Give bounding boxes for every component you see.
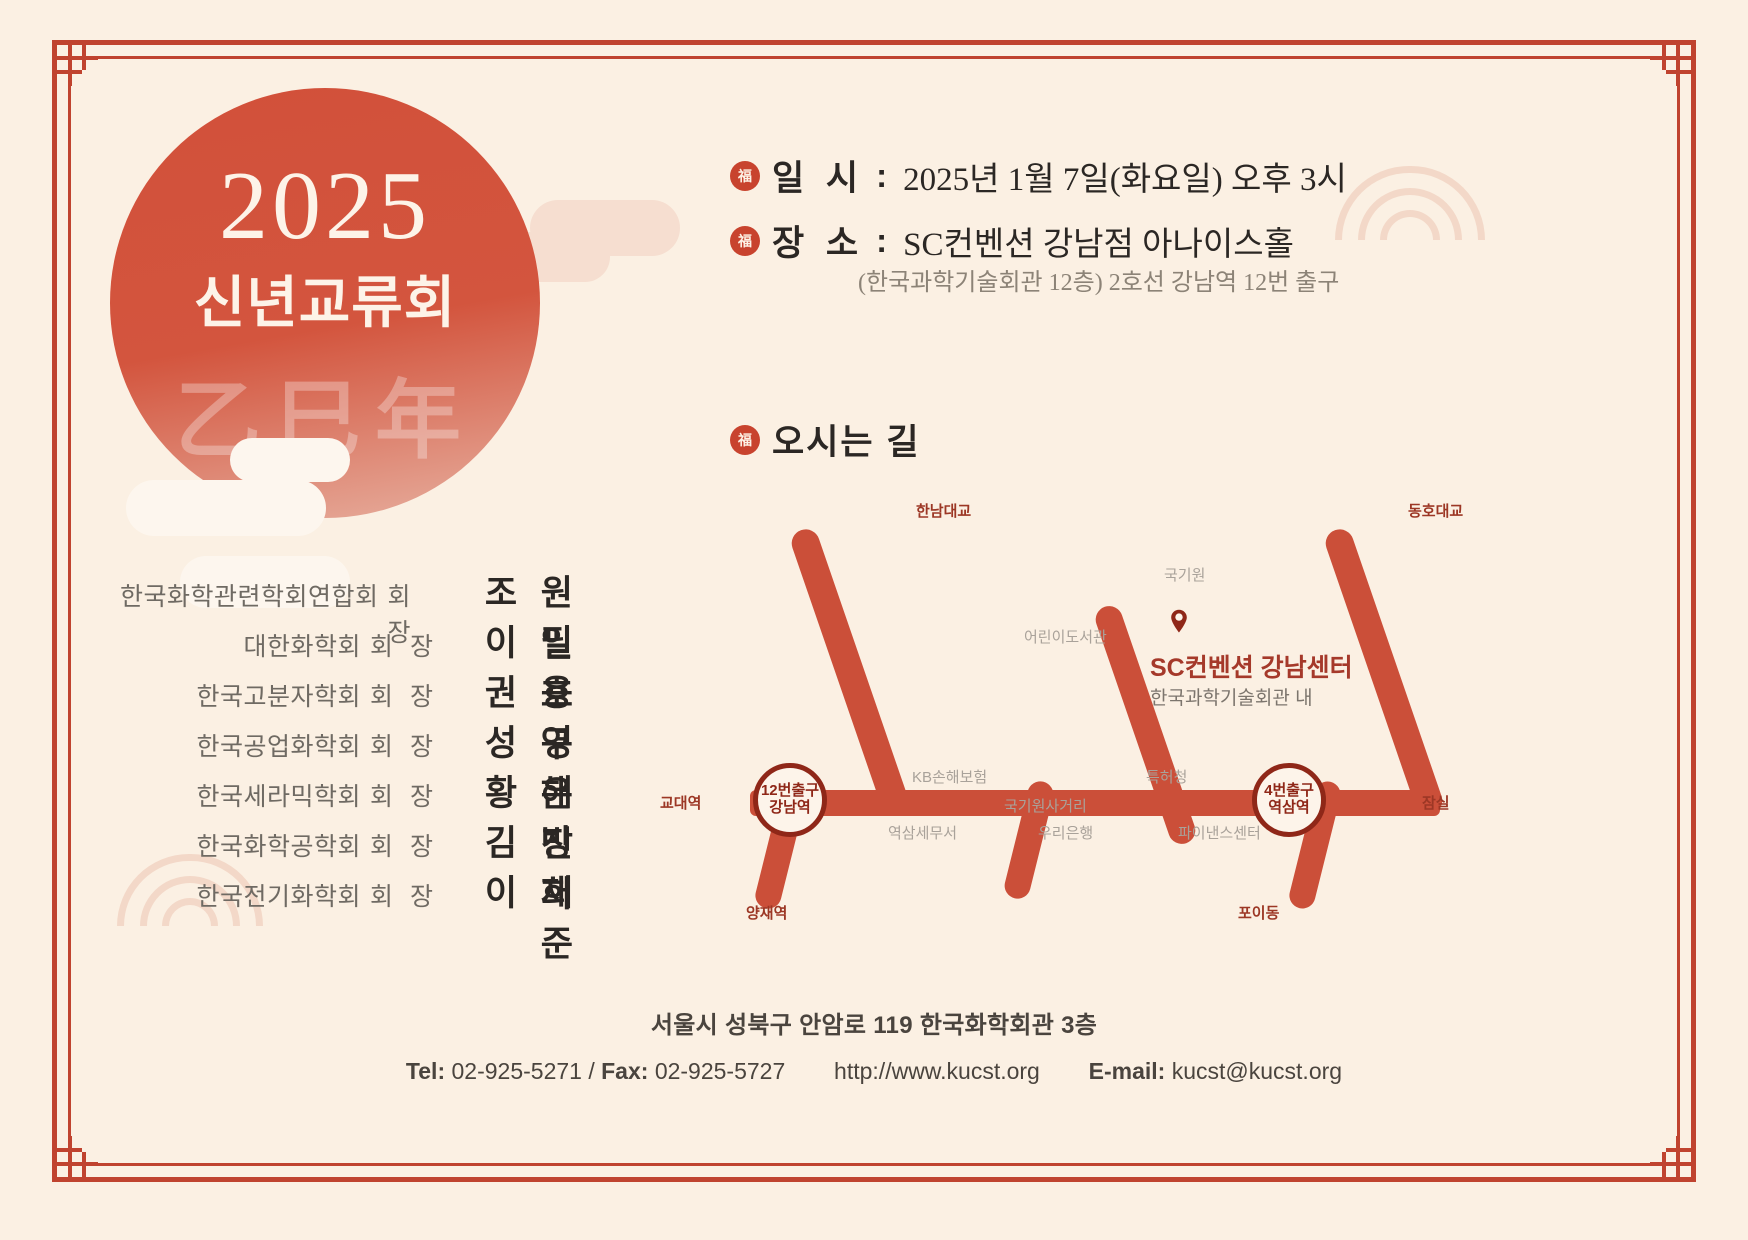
officer-role: 회 장 — [370, 827, 438, 863]
officer-role: 회 장 — [370, 777, 438, 813]
frame-corner-bottom-left-icon — [52, 1120, 114, 1182]
map-poi-patent-office: 특허청 — [1146, 766, 1187, 787]
map-poi-finance-center: 파이낸스센터 — [1178, 822, 1261, 843]
frame-corner-bottom-right-icon — [1634, 1120, 1696, 1182]
event-place-value: SC컨벤션 강남점 아나이스홀 — [903, 217, 1294, 265]
map-label-jamsil: 잠실 — [1422, 792, 1450, 813]
venue-subtext: 한국과학기술회관 내 — [1150, 683, 1313, 710]
footer-email-value[interactable]: kucst@kucst.org — [1172, 1058, 1342, 1084]
event-place-subtext: (한국과학기술회관 12층) 2호선 강남역 12번 출구 — [858, 262, 1339, 297]
station-name: 역삼역 — [1268, 800, 1309, 817]
map-poi-kb-insurance: KB손해보험 — [912, 766, 987, 787]
fortune-badge-icon: 福 — [730, 226, 760, 256]
directions-heading-text: 오시는 길 — [772, 414, 921, 465]
station-exit: 12번출구 — [761, 783, 819, 800]
road-teheran-main — [750, 790, 1440, 816]
map-label-gyodae-station: 교대역 — [660, 792, 701, 813]
map-poi-woori-bank: 우리은행 — [1038, 822, 1093, 843]
station-yeoksam[interactable]: 4번출구 역삼역 — [1252, 763, 1326, 837]
map-poi-gukgiwon: 국기원 — [1164, 564, 1205, 585]
footer-website-link[interactable]: http://www.kucst.org — [834, 1058, 1040, 1084]
officer-org: 한국전기화학회 — [197, 877, 362, 913]
list-item: 한국화학관련학회연합회 회 장 조 원 일 — [120, 565, 580, 615]
map-label-hannam-bridge: 한남대교 — [916, 500, 971, 521]
fortune-badge-icon: 福 — [730, 161, 760, 191]
officer-org: 한국고분자학회 — [197, 677, 362, 713]
frame-corner-top-left-icon — [52, 40, 114, 102]
list-item: 한국세라믹학회 회 장 황 해 진 — [120, 765, 580, 815]
frame-corner-top-right-icon — [1634, 40, 1696, 102]
list-item: 한국고분자학회 회 장 권 용 구 — [120, 665, 580, 715]
location-pin-icon — [1166, 608, 1192, 634]
footer: 서울시 성북구 안암로 119 한국화학회관 3층 Tel: 02-925-52… — [0, 1005, 1748, 1085]
event-place-label: 장 소 — [772, 215, 864, 266]
venue-name: SC컨벤션 강남센터 — [1150, 648, 1353, 684]
map-poi-gukgiwon-intersection: 국기원사거리 — [1004, 795, 1087, 816]
map-poi-childrens-library: 어린이도서관 — [1024, 626, 1107, 647]
list-item: 대한화학회 회 장 이 필 호 — [120, 615, 580, 665]
officer-org: 한국세라믹학회 — [197, 777, 362, 813]
officer-name: 이 재 준 — [452, 865, 580, 967]
map-label-yangjae-station: 양재역 — [746, 902, 787, 923]
location-map: 12번출구 강남역 4번출구 역삼역 한남대교 동호대교 교대역 양재역 포이동… — [640, 480, 1520, 930]
event-date-row: 福 일 시 : 2025년 1월 7일(화요일) 오후 3시 — [730, 150, 1347, 201]
map-label-poidong: 포이동 — [1238, 902, 1279, 923]
list-item: 한국공업화학회 회 장 성 영 은 — [120, 715, 580, 765]
list-item: 한국전기화학회 회 장 이 재 준 — [120, 865, 580, 915]
officer-org: 한국화학공학회 — [197, 827, 362, 863]
hero-title: 신년교류회 — [110, 258, 540, 339]
footer-email-label: E-mail: — [1089, 1058, 1166, 1084]
officer-role: 회 장 — [370, 627, 438, 663]
arc-decoration-top-right — [1330, 170, 1490, 240]
officer-org: 한국화학관련학회연합회 — [120, 577, 379, 613]
footer-fax-label: Fax: — [601, 1058, 648, 1084]
footer-fax-value: 02-925-5727 — [655, 1058, 785, 1084]
station-exit: 4번출구 — [1264, 783, 1314, 800]
station-gangnam[interactable]: 12번출구 강남역 — [753, 763, 827, 837]
footer-tel-value: 02-925-5271 — [452, 1058, 582, 1084]
footer-separator: / — [588, 1058, 594, 1084]
directions-heading: 福 오시는 길 — [730, 414, 921, 465]
map-poi-yeoksam-tax-office: 역삼세무서 — [888, 822, 957, 843]
cloud-shape-inner-1 — [230, 438, 350, 482]
officer-role: 회 장 — [370, 677, 438, 713]
officer-org: 한국공업화학회 — [197, 727, 362, 763]
cloud-shape-inner-2 — [126, 480, 326, 536]
officer-role: 회 장 — [370, 877, 438, 913]
event-date-colon: : — [876, 157, 887, 195]
hero-year: 2025 — [110, 150, 540, 262]
footer-tel-label: Tel: — [406, 1058, 445, 1084]
poster-canvas: 乙巳年 2025 신년교류회 福 일 시 : 2025년 1월 7일(화요일) … — [0, 0, 1748, 1240]
map-label-dongho-bridge: 동호대교 — [1408, 500, 1463, 521]
officer-role: 회 장 — [370, 727, 438, 763]
footer-contact-line: Tel: 02-925-5271 / Fax: 02-925-5727 http… — [0, 1058, 1748, 1085]
event-place-row: 福 장 소 : SC컨벤션 강남점 아나이스홀 — [730, 215, 1294, 266]
list-item: 한국화학공학회 회 장 김 방 희 — [120, 815, 580, 865]
station-name: 강남역 — [769, 800, 810, 817]
event-date-label: 일 시 — [772, 150, 864, 201]
footer-address: 서울시 성북구 안암로 119 한국화학회관 3층 — [0, 1005, 1748, 1040]
officers-list: 한국화학관련학회연합회 회 장 조 원 일 대한화학회 회 장 이 필 호 한국… — [120, 565, 580, 915]
event-place-colon: : — [876, 222, 887, 260]
officer-org: 대한화학회 — [244, 627, 362, 663]
fortune-badge-icon: 福 — [730, 425, 760, 455]
event-date-value: 2025년 1월 7일(화요일) 오후 3시 — [903, 152, 1347, 200]
